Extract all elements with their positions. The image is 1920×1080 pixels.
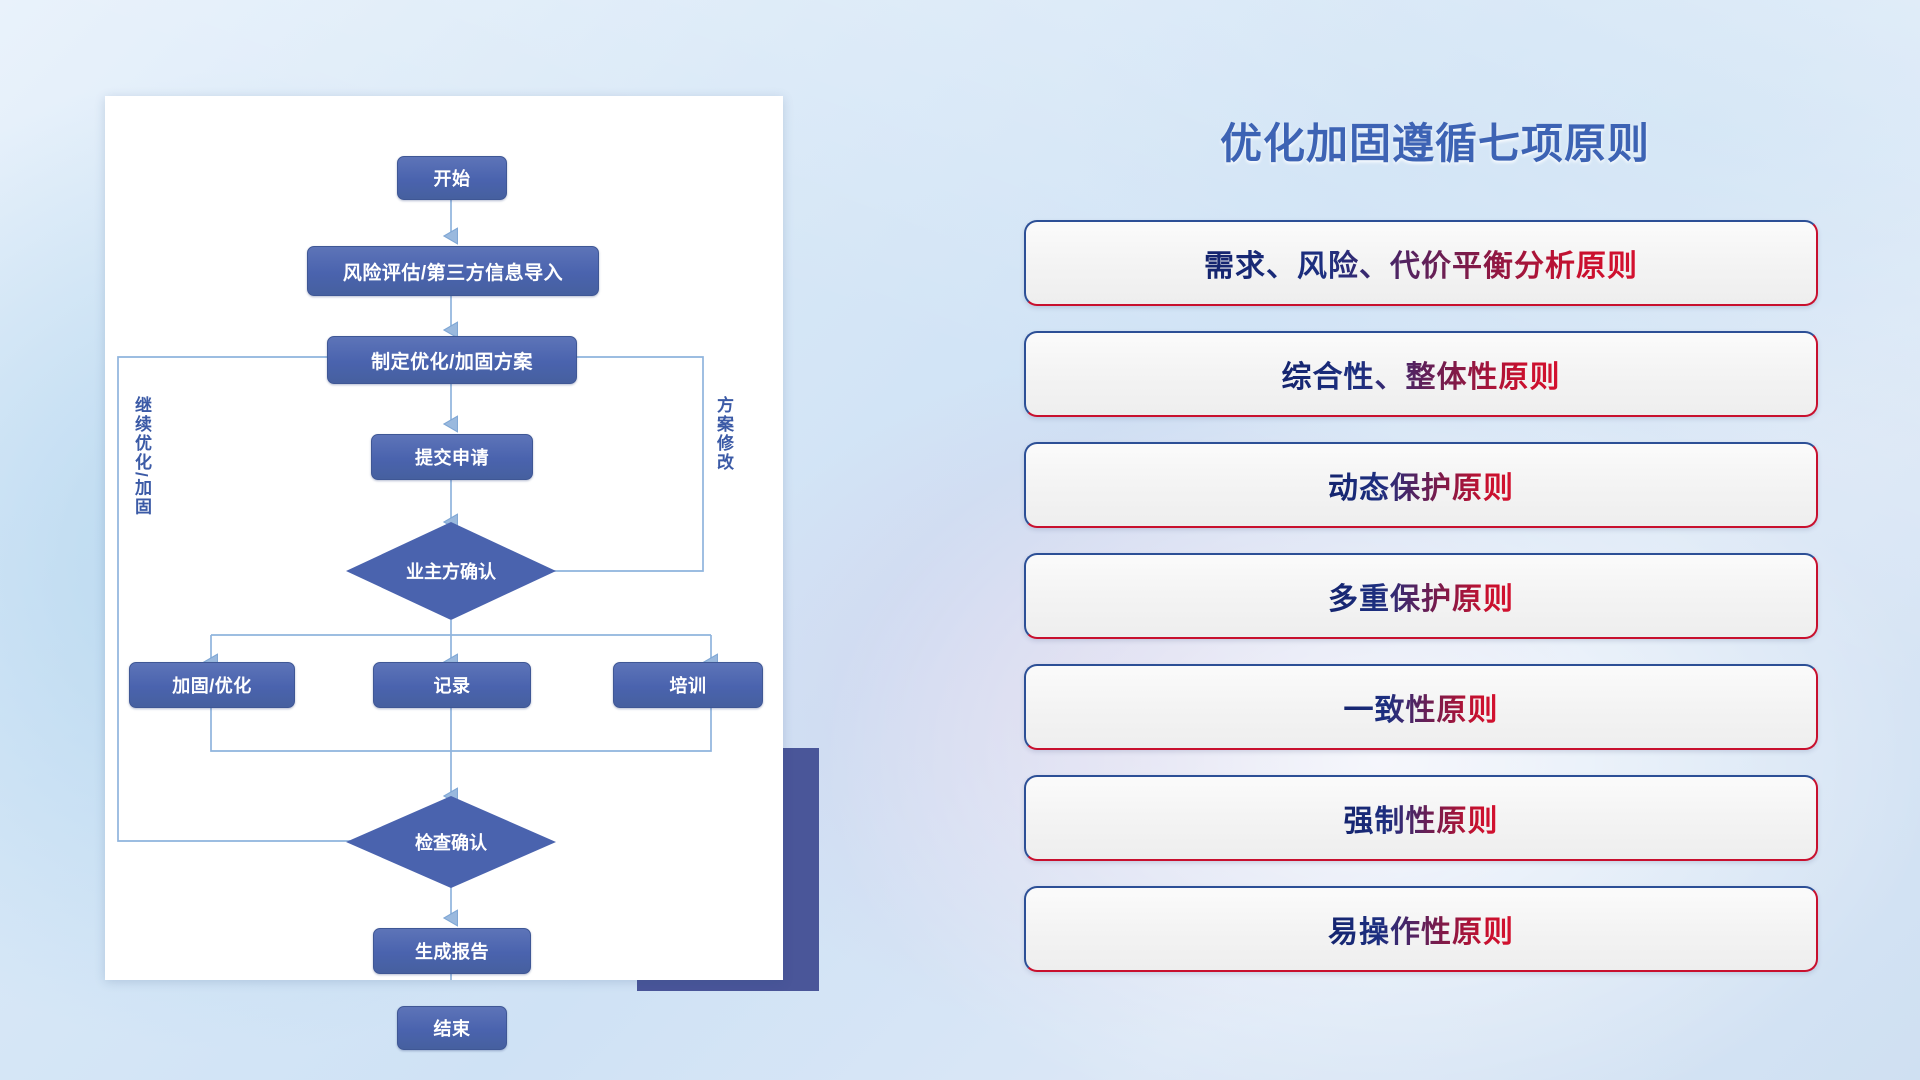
principle-label: 需求、风险、代价平衡分析原则 [1204, 241, 1638, 285]
flow-node-risk-assessment[interactable]: 风险评估/第三方信息导入 [307, 246, 599, 296]
flow-node-check-confirm[interactable]: 检查确认 [346, 796, 556, 888]
principle-card-7[interactable]: 易操作性原则 [1024, 886, 1818, 972]
flow-node-owner-confirm-label: 业主方确认 [346, 522, 556, 620]
principle-label: 综合性、整体性原则 [1282, 352, 1561, 396]
principle-card-3[interactable]: 动态保护原则 [1024, 442, 1818, 528]
flow-node-training[interactable]: 培训 [613, 662, 763, 708]
flow-node-end[interactable]: 结束 [397, 1006, 507, 1050]
principle-card-5[interactable]: 一致性原则 [1024, 664, 1818, 750]
principle-label: 一致性原则 [1344, 685, 1499, 729]
principle-card-4[interactable]: 多重保护原则 [1024, 553, 1818, 639]
flow-node-start[interactable]: 开始 [397, 156, 507, 200]
flow-left-loop-label: 继续优化/加固 [129, 396, 154, 517]
flow-node-reinforce[interactable]: 加固/优化 [129, 662, 295, 708]
flow-node-submit[interactable]: 提交申请 [371, 434, 533, 480]
flow-right-loop-label: 方案修改 [711, 396, 736, 472]
principle-card-2[interactable]: 综合性、整体性原则 [1024, 331, 1818, 417]
page-title: 优化加固遵循七项原则 [1020, 110, 1850, 171]
principle-label: 多重保护原则 [1328, 574, 1514, 618]
principle-card-1[interactable]: 需求、风险、代价平衡分析原则 [1024, 220, 1818, 306]
flowchart-card: 继续优化/加固 方案修改 开始 风险评估/第三方信息导入 制定优化/加固方案 提… [105, 96, 783, 980]
flow-node-owner-confirm[interactable]: 业主方确认 [346, 522, 556, 620]
flow-node-report[interactable]: 生成报告 [373, 928, 531, 974]
principle-label: 易操作性原则 [1328, 907, 1514, 951]
flow-node-check-confirm-label: 检查确认 [346, 796, 556, 888]
flow-node-plan[interactable]: 制定优化/加固方案 [327, 336, 577, 384]
principle-label: 动态保护原则 [1328, 463, 1514, 507]
principle-label: 强制性原则 [1344, 796, 1499, 840]
flow-node-record[interactable]: 记录 [373, 662, 531, 708]
principles-panel: 优化加固遵循七项原则 需求、风险、代价平衡分析原则 综合性、整体性原则 动态保护… [1020, 96, 1850, 996]
principle-card-6[interactable]: 强制性原则 [1024, 775, 1818, 861]
